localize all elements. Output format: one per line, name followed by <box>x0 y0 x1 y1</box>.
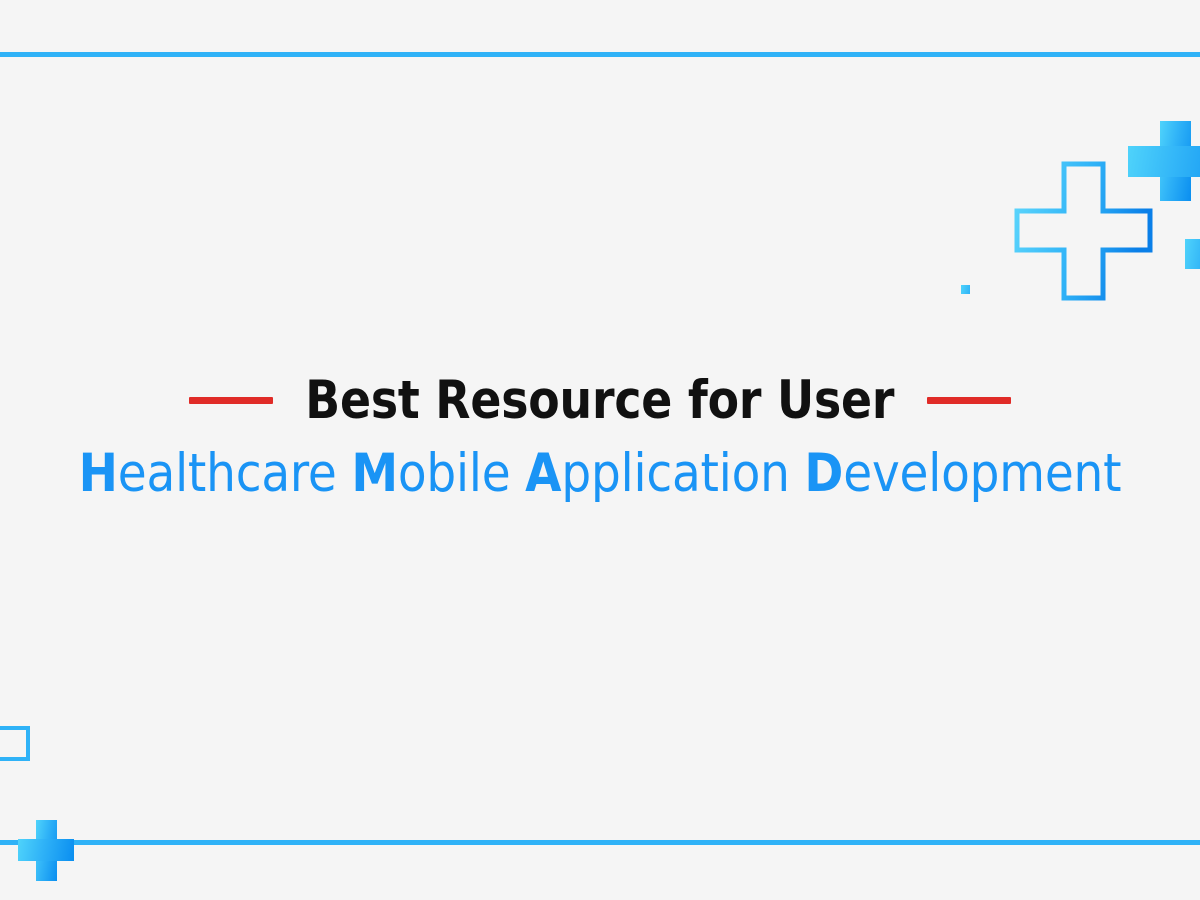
subtitle-rest: obile <box>398 443 511 504</box>
subtitle-cap: M <box>351 443 398 504</box>
page-title: Best Resource for User <box>305 370 894 431</box>
medical-cross-filled-icon <box>18 820 74 881</box>
title-dash-left <box>189 397 273 404</box>
bottom-divider <box>0 840 1200 845</box>
medical-cross-filled-icon <box>1128 121 1200 201</box>
subtitle-rest: ealthcare <box>118 443 337 504</box>
subtitle-word: Healthcare <box>79 443 337 504</box>
title-dash-right <box>927 397 1011 404</box>
subtitle-rest: pplication <box>561 443 789 504</box>
title-row: Best Resource for User <box>0 364 1200 436</box>
headline-block: Best Resource for User Healthcare Mobile… <box>0 364 1200 505</box>
square-dot-icon <box>1185 239 1200 269</box>
subtitle-cap: D <box>804 443 843 504</box>
page-subtitle: Healthcare Mobile Application Developmen… <box>9 444 1191 505</box>
subtitle-cap: A <box>525 443 561 504</box>
cross-horizontal-bar <box>18 839 74 861</box>
top-divider <box>0 52 1200 57</box>
square-dot-icon <box>961 285 970 294</box>
promo-banner: Best Resource for User Healthcare Mobile… <box>0 0 1200 900</box>
subtitle-word: Mobile <box>351 443 510 504</box>
cross-horizontal-bar <box>1128 146 1200 177</box>
subtitle-rest: evelopment <box>843 443 1121 504</box>
subtitle-cap: H <box>79 443 118 504</box>
subtitle-word: Development <box>804 443 1121 504</box>
square-outline-icon <box>0 726 30 761</box>
subtitle-word: Application <box>525 443 790 504</box>
